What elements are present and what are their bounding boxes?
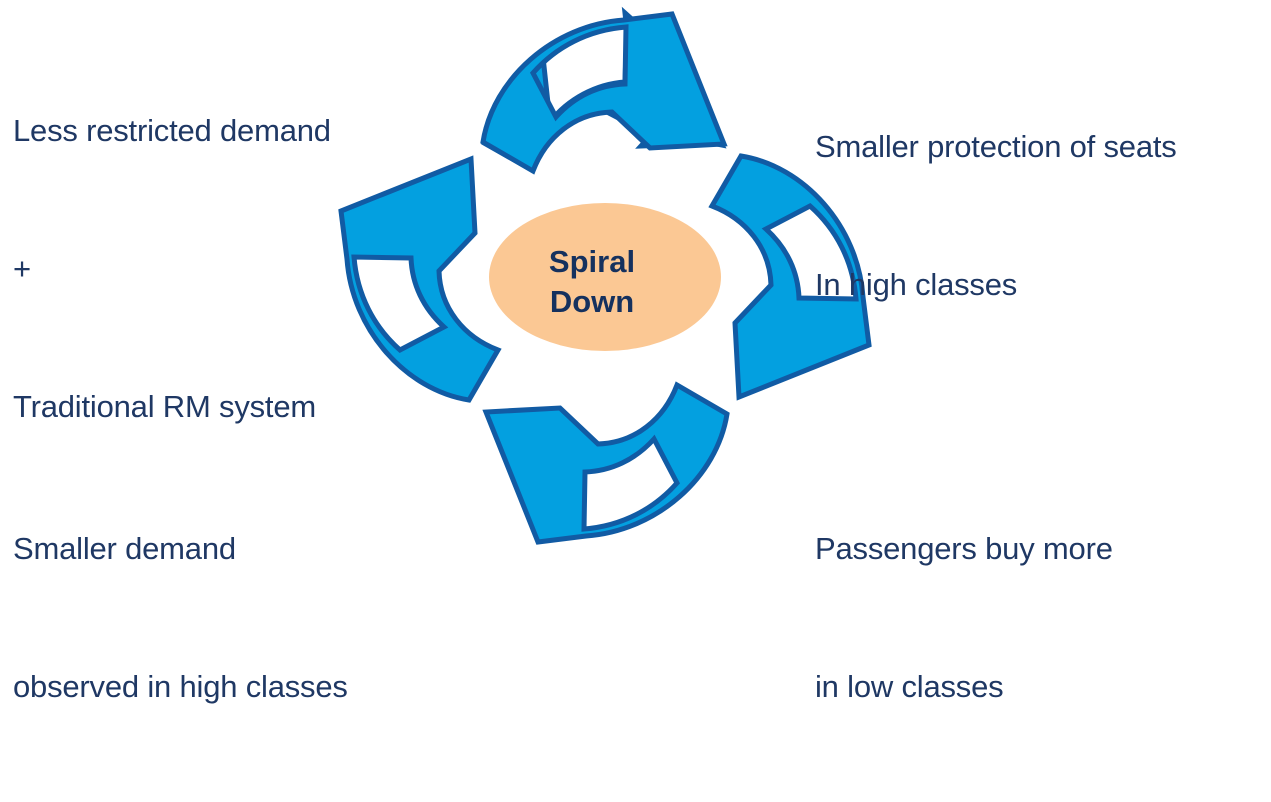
- label-top-right-line2: In high classes: [815, 262, 1177, 308]
- label-top-right-line1: Smaller protection of seats: [815, 124, 1177, 170]
- label-bottom-left-line2: observed in high classes: [13, 664, 348, 710]
- label-bottom-left-line1: Smaller demand: [13, 526, 348, 572]
- label-bottom-right: Passengers buy more in low classes: [815, 434, 1113, 802]
- label-bottom-left: Smaller demand observed in high classes: [13, 434, 348, 802]
- label-top-left-line2: +: [13, 246, 331, 292]
- arrow-bottom: [486, 385, 727, 542]
- center-label-line2: Down: [550, 284, 634, 319]
- center-label-line1: Spiral: [549, 244, 635, 279]
- label-top-left-line1: Less restricted demand: [13, 108, 331, 154]
- label-bottom-right-line2: in low classes: [815, 664, 1113, 710]
- arrow-top: [483, 13, 724, 171]
- arrow-left: [341, 159, 498, 400]
- spiral-down-cycle-diagram: Spiral Down Less restricted demand + Tra…: [0, 0, 1271, 662]
- label-top-left-line3: Traditional RM system: [13, 384, 331, 430]
- label-bottom-right-line1: Passengers buy more: [815, 526, 1113, 572]
- label-top-right: Smaller protection of seats In high clas…: [815, 32, 1177, 400]
